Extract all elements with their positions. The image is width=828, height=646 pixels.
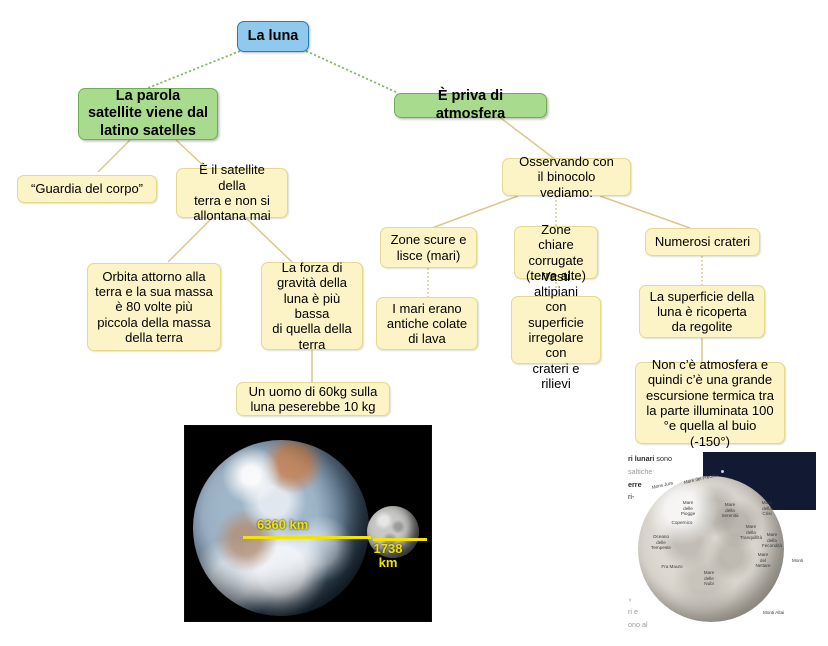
map-text-bottom3: ono al [628, 620, 648, 630]
node-numerosi-crateri[interactable]: Numerosi crateri [645, 228, 760, 256]
node-root-la-luna[interactable]: La luna [237, 21, 309, 52]
node-label: I mari erano antiche colate di lava [387, 301, 467, 347]
mind-map-canvas: La luna La parola satellite viene dal la… [0, 0, 828, 646]
node-label: La forza di gravità della luna è più bas… [269, 260, 355, 352]
earth-diameter-label: 6360 km [257, 518, 308, 532]
node-label: Un uomo di 60kg sulla luna peserebbe 10 … [249, 384, 378, 415]
mare-label-13: Monti Altai [763, 610, 784, 616]
mare-label-3: Mare della Serenità [718, 502, 742, 519]
node-zone-scure[interactable]: Zone scure e lisce (mari) [380, 227, 477, 268]
mare-label-4: Mare della Crisi [756, 500, 778, 517]
map-text-line3: erre [628, 480, 642, 490]
map-text-line4: ri- [628, 492, 634, 502]
moon-diameter-label: 1738 km [363, 542, 413, 569]
star-dot-icon [721, 470, 724, 473]
node-superficie-regolite[interactable]: La superficie della luna è ricoperta da … [639, 285, 765, 338]
map-text-line1-rest: sono [654, 454, 672, 463]
node-forza-di-gravita[interactable]: La forza di gravità della luna è più bas… [261, 262, 363, 350]
node-vasti-altipiani[interactable]: Vasti altipiani con superficie irregolar… [511, 296, 601, 364]
node-label: La parola satellite viene dal latino sat… [88, 88, 208, 139]
map-text-line2: salticheˑ [628, 467, 654, 477]
node-label: È priva di atmosfera [402, 88, 539, 122]
mare-label-5: Copernico [668, 520, 696, 526]
node-label: Zone scure e lisce (mari) [391, 232, 467, 263]
node-label: Orbita attorno alla terra e la sua massa… [95, 269, 213, 346]
node-orbita-massa[interactable]: Orbita attorno alla terra e la sua massa… [87, 263, 221, 351]
earth-moon-comparison-image: 6360 km 1738 km [184, 425, 432, 622]
mare-label-9: Mare del Nettare [752, 552, 774, 569]
node-escursione-termica[interactable]: Non c’è atmosfera e quindi c’è una grand… [635, 362, 785, 444]
node-label: Vasti altipiani con superficie irregolar… [519, 269, 593, 392]
mare-label-11: Mare delle Nubi [698, 570, 720, 587]
node-label: La superficie della luna è ricoperta da … [650, 289, 755, 335]
node-guardia-del-corpo[interactable]: “Guardia del corpo” [17, 175, 157, 203]
node-parola-satellite[interactable]: La parola satellite viene dal latino sat… [78, 88, 218, 140]
node-label: “Guardia del corpo” [31, 181, 143, 196]
map-text-bottom1: ᵥ [629, 594, 631, 604]
node-label: Non c’è atmosfera e quindi c’è una grand… [643, 357, 777, 449]
map-text-bottom2: ri e [628, 607, 638, 617]
mare-label-12: Monti [792, 558, 803, 564]
mare-label-2: Mare delle Piogge [676, 500, 700, 517]
node-label: È il satellite della terra e non si allo… [184, 162, 280, 223]
node-priva-di-atmosfera[interactable]: È priva di atmosfera [394, 93, 547, 118]
node-uomo-60kg[interactable]: Un uomo di 60kg sulla luna peserebbe 10 … [236, 382, 390, 416]
node-mari-colate-lava[interactable]: I mari erano antiche colate di lava [376, 297, 478, 350]
mare-label-10: Fra Mauro [658, 564, 686, 570]
node-osservando-binocolo[interactable]: Osservando con il binocolo vediamo: [502, 158, 631, 196]
map-text-line1: ri lunari sono [628, 454, 672, 464]
node-satellite-della-terra[interactable]: È il satellite della terra e non si allo… [176, 168, 288, 218]
mare-label-7: Mare della Fecondità [760, 532, 784, 549]
node-label: Numerosi crateri [655, 234, 750, 249]
node-label: Osservando con il binocolo vediamo: [510, 154, 623, 200]
earth-diameter-bar [243, 536, 371, 539]
node-label: La luna [248, 28, 299, 45]
mare-label-8: Oceano delle Tempeste [648, 534, 674, 551]
lunar-map-image: ri lunari sono salticheˑ erre ri- ᵥ ri e… [620, 448, 816, 634]
